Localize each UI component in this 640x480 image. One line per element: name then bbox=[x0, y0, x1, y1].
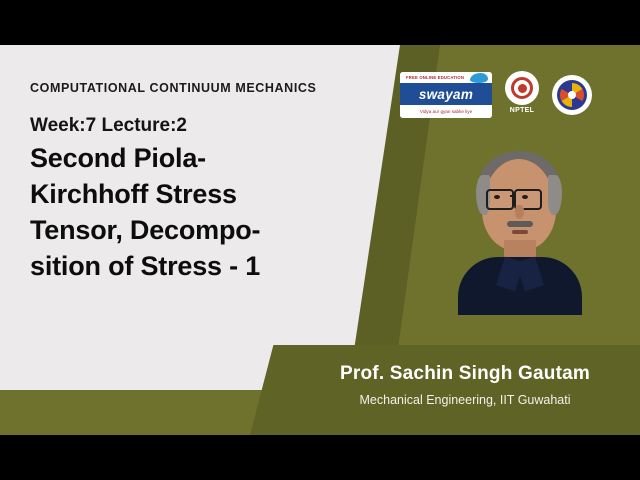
lecture-title: Second Piola- Kirchhoff Stress Tensor, D… bbox=[30, 141, 360, 285]
mouth-shape bbox=[512, 230, 528, 234]
logo-strip: FREE ONLINE EDUCATION swayam Vidya aur g… bbox=[400, 67, 600, 123]
iit-guwahati-logo-icon bbox=[552, 75, 592, 115]
swayam-tagline-bottom: Vidya aur gyan sabke liye bbox=[400, 105, 492, 118]
nptel-label: NPTEL bbox=[510, 107, 534, 114]
eye-right bbox=[522, 195, 528, 199]
nptel-mark-icon bbox=[505, 71, 539, 105]
bottom-left-strip bbox=[0, 390, 252, 435]
video-frame: COMPUTATIONAL CONTINUUM MECHANICS Week:7… bbox=[0, 0, 640, 480]
nose-shape bbox=[515, 205, 524, 219]
mustache-shape bbox=[507, 221, 533, 227]
swayam-logo-icon: FREE ONLINE EDUCATION swayam Vidya aur g… bbox=[400, 72, 492, 118]
course-title: COMPUTATIONAL CONTINUUM MECHANICS bbox=[30, 81, 316, 95]
week-lecture-label: Week:7 Lecture:2 bbox=[30, 115, 187, 137]
presenter-name: Prof. Sachin Singh Gautam bbox=[305, 363, 625, 385]
lecture-title-line-1: Second Piola- bbox=[30, 141, 360, 177]
glasses-bridge bbox=[510, 195, 516, 197]
swayam-swoosh-icon bbox=[470, 73, 488, 83]
lecture-title-line-3: Tensor, Decompo- bbox=[30, 213, 360, 249]
eye-left bbox=[494, 195, 500, 199]
iit-guwahati-emblem-icon bbox=[557, 80, 587, 110]
glasses-left-lens bbox=[486, 189, 514, 210]
nptel-logo-icon: NPTEL bbox=[502, 71, 542, 119]
lecture-title-line-4: sition of Stress - 1 bbox=[30, 249, 360, 285]
presenter-name-band bbox=[250, 345, 640, 435]
title-slide: COMPUTATIONAL CONTINUUM MECHANICS Week:7… bbox=[0, 45, 640, 435]
lecture-title-line-2: Kirchhoff Stress bbox=[30, 177, 360, 213]
presenter-photo bbox=[452, 135, 588, 315]
presenter-affiliation: Mechanical Engineering, IIT Guwahati bbox=[305, 393, 625, 407]
swayam-wordmark: swayam bbox=[400, 83, 492, 105]
